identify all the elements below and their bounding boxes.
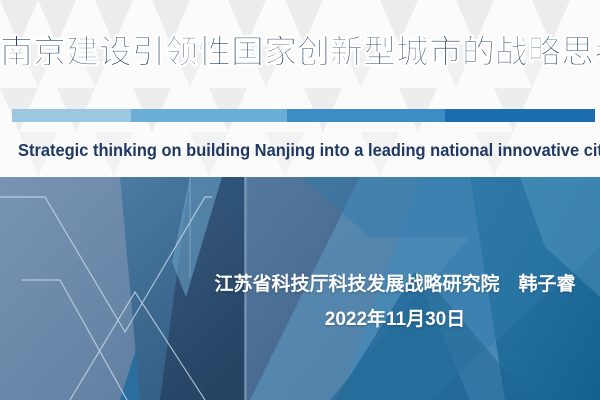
author-affiliation-line: 江苏省科技厅科技发展战略研究院 韩子睿: [190, 272, 600, 298]
accent-color-bar: [12, 109, 595, 122]
accent-bar-segment-1: [12, 109, 131, 122]
slide-subtitle: Strategic thinking on building Nanjing i…: [18, 138, 582, 163]
slide-title: 南京建设引领性国家创新型城市的战略思考: [0, 30, 600, 74]
accent-bar-segment-3: [287, 109, 445, 122]
presentation-slide: 南京建设引领性国家创新型城市的战略思考 Strategic thinking o…: [0, 0, 600, 400]
accent-bar-segment-4: [445, 109, 595, 122]
presentation-date: 2022年11月30日: [190, 307, 600, 333]
accent-bar-segment-2: [131, 109, 287, 122]
slide-header-area: 南京建设引领性国家创新型城市的战略思考 Strategic thinking o…: [0, 0, 600, 177]
